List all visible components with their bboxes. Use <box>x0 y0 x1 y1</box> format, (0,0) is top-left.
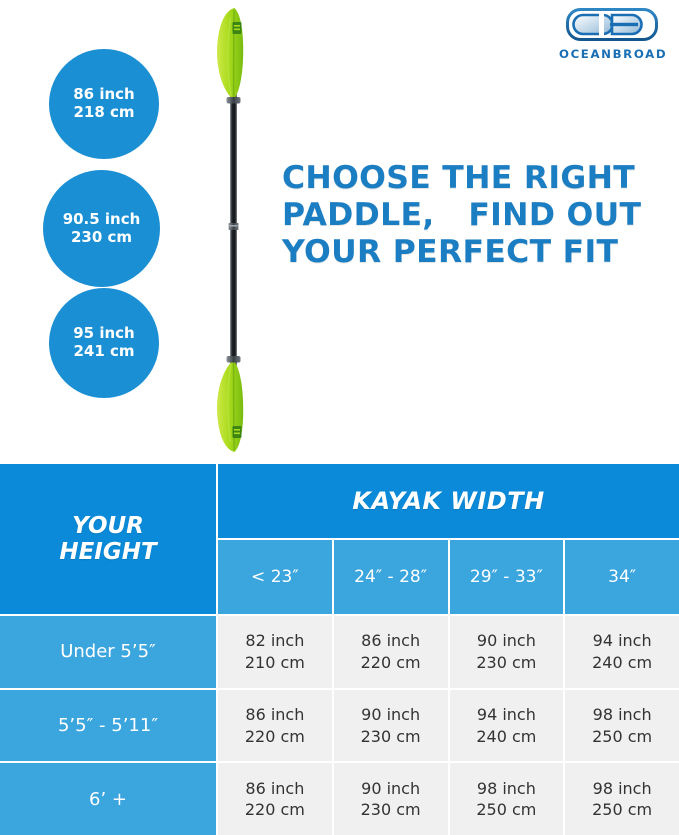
headline-line-3: YOUR PERFECT FIT <box>282 234 672 271</box>
cell-cm: 250 cm <box>592 799 652 821</box>
cell-cm: 220 cm <box>245 799 305 821</box>
table-cell: 82 inch 210 cm <box>218 616 334 688</box>
column-header-lt23: < 23″ <box>218 540 334 614</box>
cell-inch: 90 inch <box>361 778 420 800</box>
paddle-sizing-chart: YOUR HEIGHT KAYAK WIDTH < 23″ 24″ - 28″ … <box>0 464 679 835</box>
cell-inch: 90 inch <box>477 630 536 652</box>
table-cell: 90 inch 230 cm <box>450 616 566 688</box>
bubble-cm-label: 230 cm <box>71 229 132 247</box>
cell-cm: 230 cm <box>361 726 421 748</box>
table-cell: 86 inch 220 cm <box>218 763 334 835</box>
oceanbroad-ob-monogram-icon <box>566 8 658 41</box>
cell-inch: 86 inch <box>361 630 420 652</box>
table-cell: 94 inch 240 cm <box>565 616 679 688</box>
brand-wordmark: OCEANBROAD <box>559 47 665 61</box>
cell-cm: 230 cm <box>361 799 421 821</box>
cell-inch: 98 inch <box>477 778 536 800</box>
your-height-header-line-1: YOUR <box>59 513 156 539</box>
table-row: 6’ + 86 inch 220 cm 90 inch 230 cm 98 in… <box>0 761 679 835</box>
table-cell: 94 inch 240 cm <box>450 690 566 762</box>
cell-inch: 86 inch <box>245 778 304 800</box>
column-header-34: 34″ <box>565 540 679 614</box>
cell-inch: 82 inch <box>245 630 304 652</box>
your-height-header: YOUR HEIGHT <box>0 464 218 614</box>
table-header-row: YOUR HEIGHT KAYAK WIDTH < 23″ 24″ - 28″ … <box>0 464 679 614</box>
column-header-24-28: 24″ - 28″ <box>334 540 450 614</box>
cell-cm: 250 cm <box>476 799 536 821</box>
bubble-inch-label: 95 inch <box>73 325 135 343</box>
cell-cm: 240 cm <box>592 652 652 674</box>
table-row: Under 5’5″ 82 inch 210 cm 86 inch 220 cm… <box>0 614 679 688</box>
table-row: 5’5″ - 5’11″ 86 inch 220 cm 90 inch 230 … <box>0 688 679 762</box>
cell-inch: 98 inch <box>593 704 652 726</box>
your-height-header-line-2: HEIGHT <box>59 539 156 565</box>
paddle-length-bubble: 95 inch 241 cm <box>49 288 159 398</box>
cell-cm: 240 cm <box>476 726 536 748</box>
page-title: CHOOSE THE RIGHT PADDLE, FIND OUT YOUR P… <box>282 160 672 271</box>
table-cell: 86 inch 220 cm <box>334 616 450 688</box>
row-height-label: 6’ + <box>0 763 218 835</box>
cell-inch: 98 inch <box>593 778 652 800</box>
kayak-width-header-block: KAYAK WIDTH < 23″ 24″ - 28″ 29″ - 33″ 34… <box>218 464 679 614</box>
table-cell: 86 inch 220 cm <box>218 690 334 762</box>
cell-cm: 250 cm <box>592 726 652 748</box>
kayak-width-header: KAYAK WIDTH <box>218 464 679 540</box>
table-cell: 90 inch 230 cm <box>334 763 450 835</box>
cell-inch: 94 inch <box>593 630 652 652</box>
kayak-paddle-icon <box>188 4 284 452</box>
row-height-label: Under 5’5″ <box>0 616 218 688</box>
headline-line-1: CHOOSE THE RIGHT <box>282 160 672 197</box>
paddle-length-bubble: 90.5 inch 230 cm <box>43 170 160 287</box>
cell-cm: 210 cm <box>245 652 305 674</box>
headline-line-2: PADDLE, FIND OUT <box>282 197 672 234</box>
table-cell: 98 inch 250 cm <box>565 763 679 835</box>
bubble-cm-label: 218 cm <box>73 104 134 122</box>
cell-cm: 230 cm <box>476 652 536 674</box>
cell-cm: 220 cm <box>361 652 421 674</box>
column-header-29-33: 29″ - 33″ <box>450 540 566 614</box>
paddle-length-bubble: 86 inch 218 cm <box>49 49 159 159</box>
row-height-label: 5’5″ - 5’11″ <box>0 690 218 762</box>
table-cell: 98 inch 250 cm <box>450 763 566 835</box>
kayak-width-column-headers: < 23″ 24″ - 28″ 29″ - 33″ 34″ <box>218 540 679 614</box>
cell-inch: 86 inch <box>245 704 304 726</box>
bubble-inch-label: 90.5 inch <box>63 211 141 229</box>
cell-inch: 90 inch <box>361 704 420 726</box>
bubble-cm-label: 241 cm <box>73 343 134 361</box>
brand-logo: OCEANBROAD <box>560 8 664 60</box>
bubble-inch-label: 86 inch <box>73 86 135 104</box>
cell-cm: 220 cm <box>245 726 305 748</box>
table-cell: 90 inch 230 cm <box>334 690 450 762</box>
cell-inch: 94 inch <box>477 704 536 726</box>
table-cell: 98 inch 250 cm <box>565 690 679 762</box>
